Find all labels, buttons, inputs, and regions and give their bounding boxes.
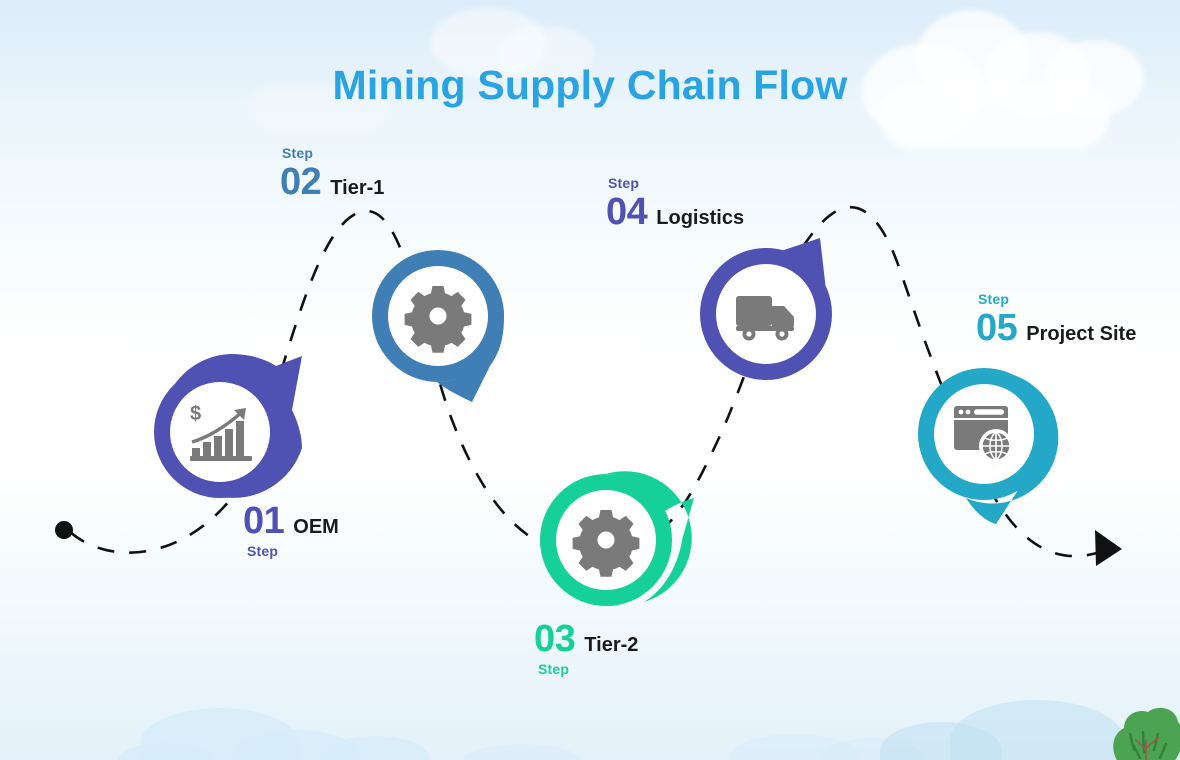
step-number-01: 01 — [243, 502, 284, 540]
step-pin-01[interactable]: $ — [152, 348, 312, 518]
tree-bottom-right — [1104, 700, 1180, 760]
step-pin-05[interactable] — [918, 368, 1064, 528]
step-number-05: 05 — [976, 309, 1017, 347]
step-label-01: 01 OEM Step — [243, 502, 339, 558]
step-name-01: OEM — [293, 517, 339, 537]
step-word-01: Step — [247, 544, 339, 558]
step-number-04: 04 — [606, 193, 647, 231]
gear-icon — [405, 286, 472, 353]
step-number-02: 02 — [280, 163, 321, 201]
step-name-05: Project Site — [1026, 324, 1136, 344]
step-name-02: Tier-1 — [330, 178, 384, 198]
step-label-04: Step 04 Logistics — [606, 176, 744, 231]
step-word-05: Step — [978, 292, 1136, 306]
step-label-02: Step 02 Tier-1 — [280, 146, 384, 201]
step-pin-02[interactable] — [372, 246, 522, 411]
step-name-03: Tier-2 — [584, 635, 638, 655]
step-number-03: 03 — [534, 620, 575, 658]
gear-icon — [573, 510, 640, 577]
infographic-canvas: $ 01 OEM Step Step 02 Tier-1 — [0, 0, 1180, 760]
step-name-04: Logistics — [656, 208, 744, 228]
step-word-03: Step — [538, 662, 638, 676]
step-pin-04[interactable] — [698, 230, 850, 388]
step-label-03: 03 Tier-2 Step — [534, 620, 638, 676]
svg-text:$: $ — [190, 403, 201, 425]
step-pin-03[interactable] — [536, 470, 704, 620]
step-word-04: Step — [608, 176, 744, 190]
step-label-05: Step 05 Project Site — [976, 292, 1136, 347]
page-title: Mining Supply Chain Flow — [0, 62, 1180, 109]
step-word-02: Step — [282, 146, 384, 160]
